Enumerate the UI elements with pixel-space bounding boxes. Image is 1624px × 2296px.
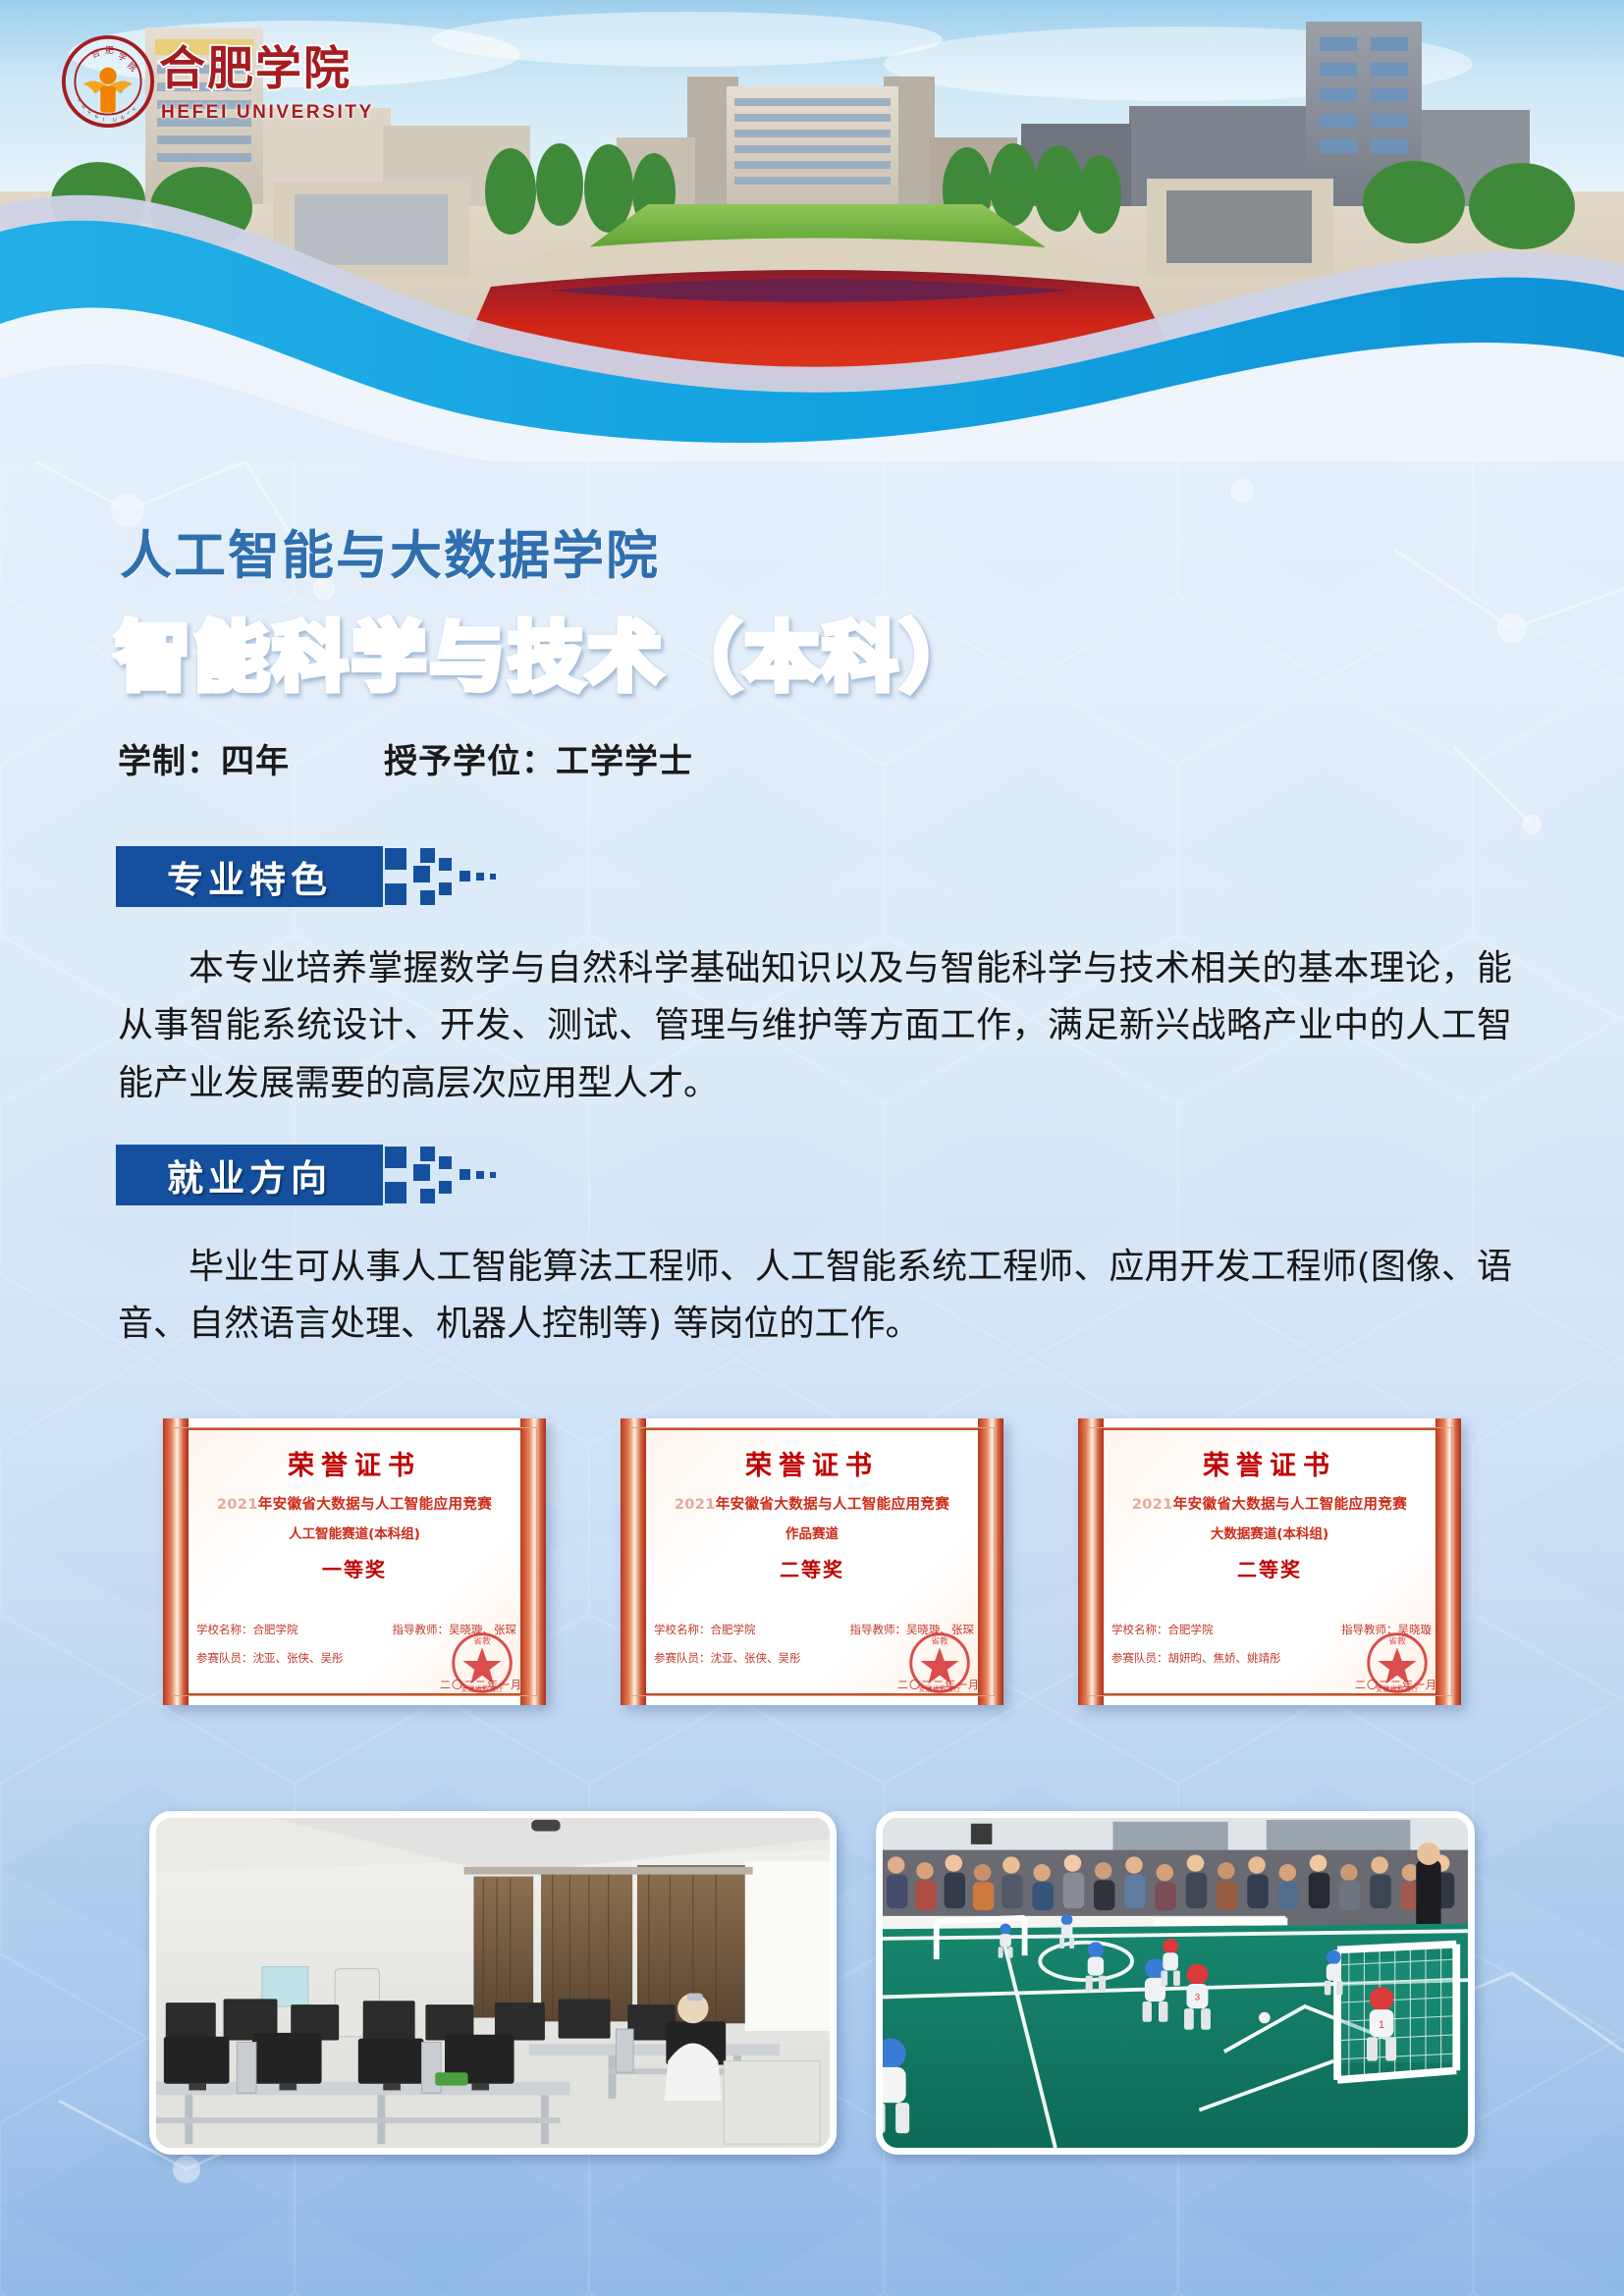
certificate-gallery: 荣誉证书 2021年安徽省大数据与人工智能应用竞赛 人工智能赛道(本科组) 一等… [0,1418,1624,1728]
svg-text:省教: 省教 [473,1635,491,1647]
certificate-competition: 2021年安徽省大数据与人工智能应用竞赛 [1111,1493,1428,1514]
certificate-school: 学校名称：合肥学院 [1111,1622,1214,1637]
hefei-university-seal-icon: 合 肥 学 院 H E F E I U N I V [61,34,155,129]
logo-chinese-name: 合肥学院 [157,36,383,101]
svg-text:E: E [94,113,99,120]
svg-text:I: I [126,110,131,116]
certificate-card: 荣誉证书 2021年安徽省大数据与人工智能应用竞赛 人工智能赛道(本科组) 一等… [163,1418,546,1705]
svg-text:合肥学院: 合肥学院 [159,42,352,96]
poster-root: 合肥学院 [0,0,1624,2296]
section-header-features: 专业特色 [116,846,509,907]
banner-features-label: 专业特色 [167,850,332,903]
svg-text:院: 院 [125,60,139,75]
university-logo: 合 肥 学 院 H E F E I U N I V [61,27,385,135]
certificate-prize: 一等奖 [196,1554,513,1582]
svg-text:省教: 省教 [931,1635,948,1647]
svg-text:I: I [103,117,105,123]
banner-careers: 就业方向 [116,1145,383,1205]
certificate-school: 学校名称：合肥学院 [654,1622,756,1637]
wave-decoration [0,137,1624,461]
svg-text:V: V [130,106,136,113]
certificate-members: 参赛队员：沈亚、张侠、吴彤 [654,1650,801,1666]
section-body-features: 本专业培养掌握数学与自然科学基础知识以及与智能科学与技术相关的基本理论，能从事智… [118,940,1512,1112]
certificate-left-edge [163,1418,189,1705]
certificate-left-edge [621,1418,646,1705]
major-title: 智能科学与技术（本科） [116,597,980,705]
svg-text:3: 3 [1195,1993,1200,2003]
svg-text:U: U [112,117,117,124]
svg-text:省教: 省教 [1388,1635,1406,1647]
certificate-right-edge [978,1418,1003,1705]
certificate-left-edge [1078,1418,1104,1705]
certificate-date: 二〇二二年一月 [1355,1677,1437,1692]
certificate-title: 荣誉证书 [654,1444,970,1482]
svg-text:1: 1 [1379,2019,1384,2031]
pixel-squares-icon-2 [383,1145,509,1205]
certificate-title: 荣誉证书 [1111,1444,1428,1482]
svg-text:学: 学 [116,50,129,64]
certificate-school: 学校名称：合肥学院 [196,1622,298,1637]
section-body-careers: 毕业生可从事人工智能算法工程师、人工智能系统工程师、应用开发工程师(图像、语音、… [118,1239,1512,1354]
certificate-prize: 二等奖 [654,1554,970,1582]
robot-soccer-photo: HONDAKUKASIEMENS [876,1811,1475,2155]
banner-features: 专业特色 [116,846,383,907]
computer-lab-photo [149,1811,837,2155]
certificate-title: 荣誉证书 [196,1444,513,1482]
program-degree: 授予学位：工学学士 [384,734,693,782]
certificate-track: 作品赛道 [654,1522,970,1542]
banner-careers-label: 就业方向 [167,1148,332,1201]
certificate-track: 人工智能赛道(本科组) [196,1522,513,1542]
program-meta: 学制：四年 授予学位：工学学士 [118,734,693,782]
pixel-squares-icon [383,846,509,907]
certificate-date: 二〇二二年一月 [897,1677,980,1692]
certificate-track: 大数据赛道(本科组) [1111,1522,1428,1542]
certificate-prize: 二等奖 [1111,1554,1428,1582]
photo-gallery: HONDAKUKASIEMENS [0,1811,1624,2160]
college-name: 人工智能与大数据学院 [120,514,660,589]
certificate-competition: 2021年安徽省大数据与人工智能应用竞赛 [196,1493,513,1514]
certificate-competition: 2021年安徽省大数据与人工智能应用竞赛 [654,1493,970,1514]
program-duration: 学制：四年 [118,734,290,782]
section-header-careers: 就业方向 [116,1145,509,1205]
certificate-card: 荣誉证书 2021年安徽省大数据与人工智能应用竞赛 大数据赛道(本科组) 二等奖… [1078,1418,1461,1705]
certificate-members: 参赛队员：胡妍昀、焦娇、姚靖彤 [1111,1650,1281,1666]
svg-text:肥: 肥 [105,45,114,56]
certificate-date: 二〇二二年一月 [440,1677,522,1692]
certificate-right-edge [1435,1418,1461,1705]
certificate-members: 参赛队员：沈亚、张侠、吴彤 [196,1650,344,1666]
logo-english-name: HEFEI UNIVERSITY [157,102,383,124]
certificate-card: 荣誉证书 2021年安徽省大数据与人工智能应用竞赛 作品赛道 二等奖 学校名称：… [621,1418,1003,1705]
certificate-right-edge [520,1418,546,1705]
